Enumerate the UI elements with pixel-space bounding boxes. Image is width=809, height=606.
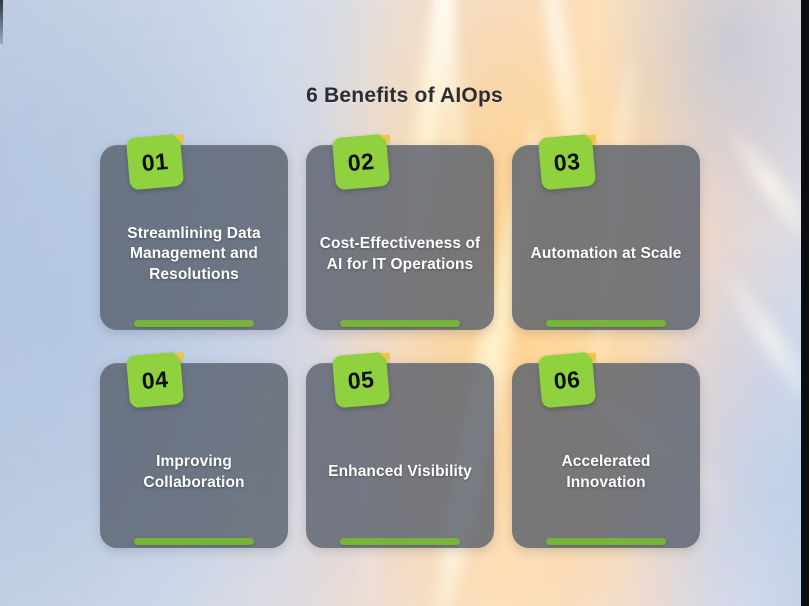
number-badge: 04 <box>126 352 184 409</box>
benefits-grid: 01 Streamlining Data Management and Reso… <box>100 145 700 548</box>
benefit-label: Improving Collaboration <box>110 452 278 493</box>
accent-bar <box>546 320 666 327</box>
number-badge: 02 <box>332 134 390 191</box>
benefit-card-01[interactable]: 01 Streamlining Data Management and Reso… <box>100 145 288 330</box>
number-badge: 05 <box>332 352 390 409</box>
accent-bar <box>134 538 254 545</box>
benefit-label: Accelerated Innovation <box>522 452 690 493</box>
badge-number: 02 <box>347 147 376 176</box>
badge-number: 03 <box>553 147 582 176</box>
benefit-card-body: Accelerated Innovation <box>522 423 690 522</box>
benefit-card-04[interactable]: 04 Improving Collaboration <box>100 363 288 548</box>
benefit-card-body: Improving Collaboration <box>110 423 278 522</box>
number-badge: 03 <box>538 134 596 191</box>
badge-number: 04 <box>141 365 170 394</box>
accent-bar <box>546 538 666 545</box>
accent-bar <box>340 538 460 545</box>
accent-bar <box>134 320 254 327</box>
benefit-card-02[interactable]: 02 Cost-Effectiveness of AI for IT Opera… <box>306 145 494 330</box>
page-title: 6 Benefits of AIOps <box>0 84 809 108</box>
accent-bar <box>340 320 460 327</box>
badge-number: 01 <box>141 147 170 176</box>
number-badge: 06 <box>538 352 596 409</box>
benefit-label: Enhanced Visibility <box>328 462 472 483</box>
badge-number: 06 <box>553 365 582 394</box>
benefit-label: Automation at Scale <box>531 244 682 265</box>
light-streak-6 <box>717 115 809 264</box>
infographic-slide: 6 Benefits of AIOps 01 Streamlining Data… <box>0 0 809 606</box>
light-streak-7 <box>707 252 809 430</box>
benefit-card-05[interactable]: 05 Enhanced Visibility <box>306 363 494 548</box>
badge-number: 05 <box>347 365 376 394</box>
frame-edge-left <box>0 0 3 44</box>
benefit-card-body: Enhanced Visibility <box>316 423 484 522</box>
frame-edge-right <box>801 0 809 606</box>
benefit-card-body: Cost-Effectiveness of AI for IT Operatio… <box>316 205 484 304</box>
benefit-card-03[interactable]: 03 Automation at Scale <box>512 145 700 330</box>
number-badge: 01 <box>126 134 184 191</box>
benefit-card-06[interactable]: 06 Accelerated Innovation <box>512 363 700 548</box>
benefit-card-body: Automation at Scale <box>522 205 690 304</box>
benefit-card-body: Streamlining Data Management and Resolut… <box>110 205 278 304</box>
benefit-label: Streamlining Data Management and Resolut… <box>110 224 278 286</box>
benefit-label: Cost-Effectiveness of AI for IT Operatio… <box>316 234 484 275</box>
